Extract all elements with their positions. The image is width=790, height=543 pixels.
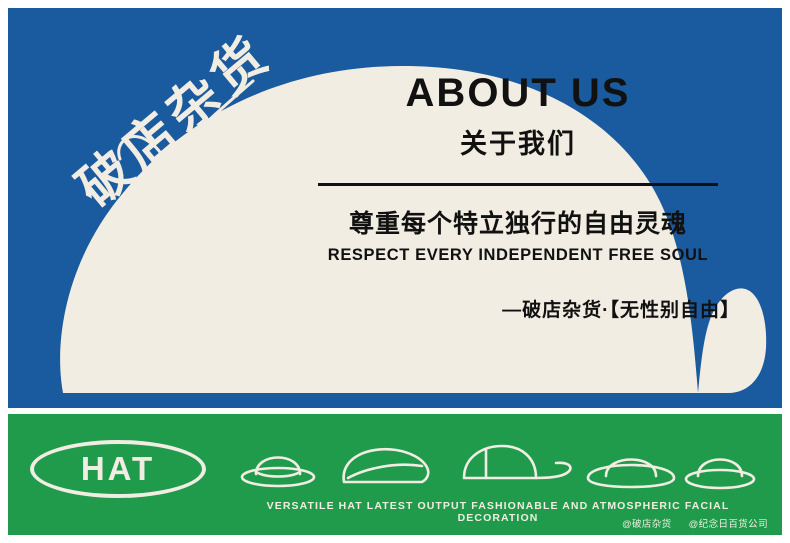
baseball-cap-icon bbox=[464, 446, 570, 478]
slogan-cn: 尊重每个特立独行的自由灵魂 bbox=[288, 204, 748, 240]
about-heading-en: ABOUT US bbox=[288, 70, 748, 116]
bucket-hat-icon bbox=[686, 460, 754, 489]
signature-line: —破店杂货·【无性别自由】 bbox=[288, 295, 748, 322]
about-heading-cn: 关于我们 bbox=[288, 122, 748, 161]
wide-brim-hat-icon bbox=[588, 460, 674, 488]
poster-root: 破店杂货 ABOUT US 关于我们 尊重每个特立独行的自由灵魂 RESPECT… bbox=[0, 0, 790, 543]
hat-badge: HAT bbox=[30, 440, 206, 498]
handle-primary: @破店杂货 bbox=[622, 519, 672, 530]
bowler-hat-icon bbox=[242, 458, 314, 487]
beret-hat-icon bbox=[344, 449, 429, 482]
slogan-en: RESPECT EVERY INDEPENDENT FREE SOUL bbox=[288, 246, 748, 265]
hat-icon-row bbox=[236, 432, 760, 494]
hat-badge-label: HAT bbox=[34, 444, 202, 494]
about-panel: 破店杂货 ABOUT US 关于我们 尊重每个特立独行的自由灵魂 RESPECT… bbox=[8, 8, 782, 408]
handle-secondary: @纪念日百货公司 bbox=[689, 519, 768, 530]
footer-handles: @破店杂货 @纪念日百货公司 bbox=[608, 516, 768, 530]
divider-rule bbox=[318, 183, 718, 186]
footer-panel: HAT bbox=[8, 414, 782, 535]
about-text-block: ABOUT US 关于我们 尊重每个特立独行的自由灵魂 RESPECT EVER… bbox=[288, 70, 748, 322]
